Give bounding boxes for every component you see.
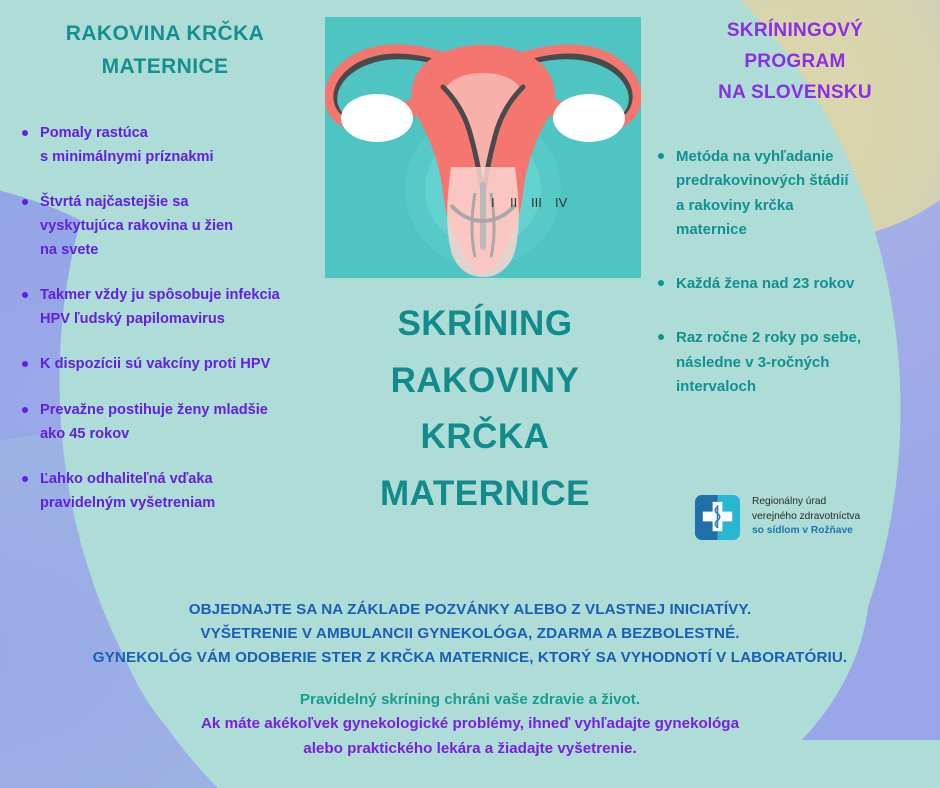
left-column-bullet-list: Pomaly rastúca s minimálnymi príznakmi Š… <box>16 122 346 538</box>
center-title: SKRÍNING RAKOVINY KRČKA MATERNICE <box>330 296 640 523</box>
stage-label-i: I <box>491 195 495 210</box>
cta-line-1: Pravidelný skríning chráni vaše zdravie … <box>0 688 940 712</box>
center-title-line-4: MATERNICE <box>330 466 640 523</box>
instruction-line-2: VYŠETRENIE V AMBULANCII GYNEKOLÓGA, ZDAR… <box>0 622 940 646</box>
stage-label-ii: II <box>510 195 517 210</box>
instruction-line-1: OBJEDNAJTE SA NA ZÁKLADE POZVÁNKY ALEBO … <box>0 598 940 622</box>
organization-logo: Regionálny úrad verejného zdravotníctva … <box>694 487 894 547</box>
instruction-line-3: GYNEKOLÓG VÁM ODOBERIE STER Z KRČKA MATE… <box>0 646 940 670</box>
list-item: Ľahko odhaliteľná vďakapravidelným vyšet… <box>16 468 346 515</box>
left-column-heading: RAKOVINA KRČKA MATERNICE <box>10 18 320 83</box>
right-heading-line-2: PROGRAM <box>655 47 935 78</box>
list-item: Raz ročne 2 roky po sebe,následne v 3-ro… <box>652 326 937 399</box>
uterus-cervix-illustration: I II III IV <box>325 17 641 278</box>
right-ovary <box>553 94 625 142</box>
bottom-call-to-action: Pravidelný skríning chráni vaše zdravie … <box>0 688 940 761</box>
left-ovary <box>341 94 413 142</box>
cta-line-3: alebo praktického lekára a žiadajte vyše… <box>0 737 940 761</box>
left-heading-line-2: MATERNICE <box>10 51 320 84</box>
health-cross-caduceus-icon <box>694 494 741 541</box>
cta-line-2: Ak máte akékoľvek gynekologické problémy… <box>0 712 940 736</box>
list-item: Takmer vždy ju spôsobuje infekcia HPV ľu… <box>16 284 346 331</box>
right-column-heading: SKRÍNINGOVÝ PROGRAM NA SLOVENSKU <box>655 16 935 108</box>
right-column-bullet-list: Metóda na vyhľadaniepredrakovinových štá… <box>652 145 937 429</box>
uterus-diagram-svg: I II III IV <box>325 17 641 278</box>
list-item: K dispozícii sú vakcíny proti HPV <box>16 353 346 377</box>
stage-label-iv: IV <box>555 195 568 210</box>
left-heading-line-1: RAKOVINA KRČKA <box>10 18 320 51</box>
logo-line-1: Regionálny úrad <box>752 495 860 509</box>
center-title-line-1: SKRÍNING <box>330 296 640 353</box>
list-item: Pomaly rastúca s minimálnymi príznakmi <box>16 122 346 169</box>
right-heading-line-1: SKRÍNINGOVÝ <box>655 16 935 47</box>
list-item: Každá žena nad 23 rokov <box>652 272 937 296</box>
bottom-instructions: OBJEDNAJTE SA NA ZÁKLADE POZVÁNKY ALEBO … <box>0 598 940 670</box>
list-item: Prevažne postihuje ženy mladšieako 45 ro… <box>16 399 346 446</box>
center-title-line-2: RAKOVINY <box>330 353 640 410</box>
center-title-line-3: KRČKA <box>330 409 640 466</box>
list-item: Metóda na vyhľadaniepredrakovinových štá… <box>652 145 937 242</box>
infographic-poster: RAKOVINA KRČKA MATERNICE Pomaly rastúca … <box>0 0 940 788</box>
right-heading-line-3: NA SLOVENSKU <box>655 78 935 109</box>
list-item: Štvrtá najčastejšie savyskytujúca rakovi… <box>16 191 346 262</box>
logo-line-3: so sídlom v Rožňave <box>752 524 860 538</box>
stage-label-iii: III <box>531 195 542 210</box>
logo-line-2: verejného zdravotníctva <box>752 510 860 524</box>
logo-text-block: Regionálny úrad verejného zdravotníctva … <box>752 495 860 538</box>
